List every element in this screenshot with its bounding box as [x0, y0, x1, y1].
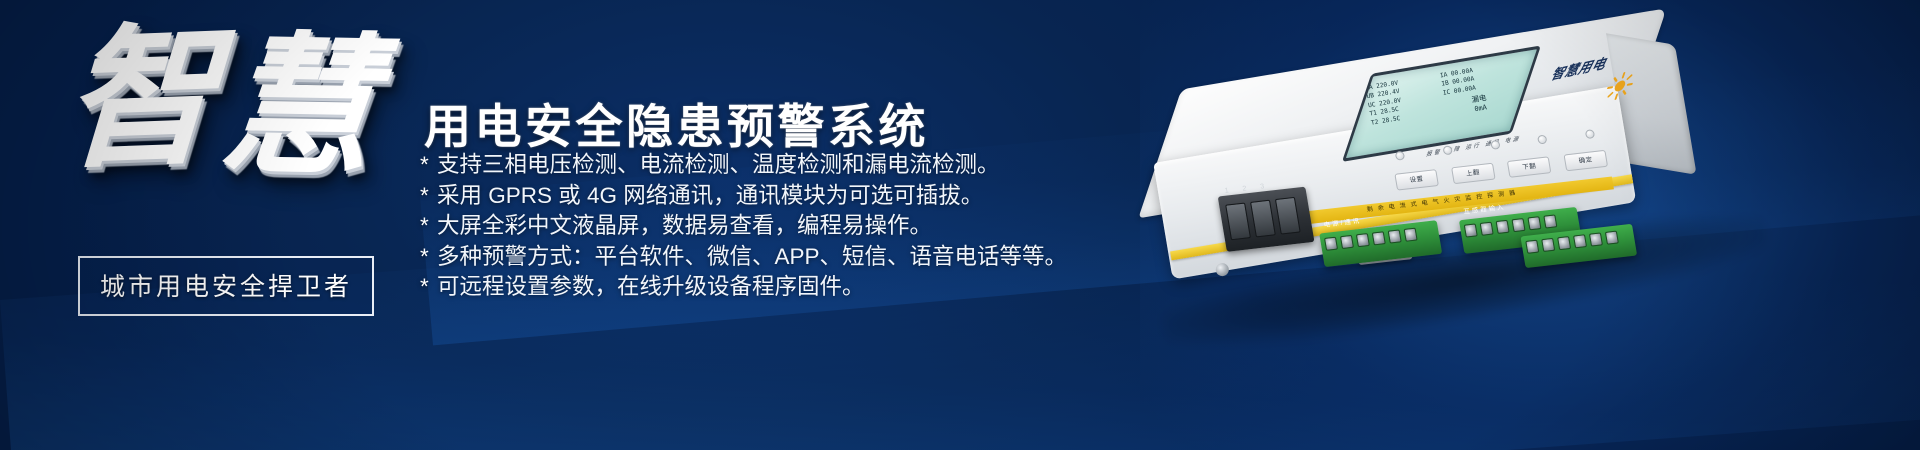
list-item-label: 大屏全彩中文液晶屏，数据易查看，编程易操作。 [437, 213, 932, 238]
indicator-led [1537, 135, 1547, 145]
connector-pin [1225, 203, 1251, 241]
page-title: 用电安全隐患预警系统 [424, 88, 929, 157]
terminal-screw [1527, 216, 1541, 230]
terminal-screw [1557, 236, 1571, 250]
bullet-marker-icon: * [420, 242, 437, 273]
device-black-connector: 1 2 3 [1218, 187, 1315, 252]
list-item-label: 采用 GPRS 或 4G 网络通讯，通讯模块为可选可插拔。 [437, 183, 983, 208]
terminal-screw [1511, 218, 1525, 232]
list-item-label: 支持三相电压检测、电流检测、温度检测和漏电流检测。 [437, 152, 1000, 177]
terminal-screws [1525, 231, 1619, 254]
bullet-marker-icon: * [420, 181, 437, 212]
calligraphy-char-2: 慧 [214, 29, 388, 184]
terminal-screw [1541, 238, 1555, 252]
promo-banner: 智慧 城市用电安全捍卫者 用电安全隐患预警系统 *支持三相电压检测、电流检测、温… [0, 0, 1920, 450]
indicator-led [1585, 129, 1595, 139]
indicator-led [1442, 145, 1452, 155]
bullet-marker-icon: * [420, 272, 437, 303]
indicator-led [1395, 151, 1405, 161]
list-item: *大屏全彩中文液晶屏，数据易查看，编程易操作。 [420, 211, 1120, 242]
list-item-label: 可远程设置参数，在线升级设备程序固件。 [437, 274, 865, 299]
connector-pin [1275, 197, 1301, 235]
device-body-group: UA 220.0V UB 220.4V UC 220.0V T1 28.5C T… [1078, 0, 1920, 404]
terminal-screws [1324, 228, 1418, 251]
list-item-label: 多种预警方式：平台软件、微信、APP、短信、语音电话等等。 [437, 244, 1067, 269]
terminal-screw [1404, 228, 1418, 242]
lcd-leakage-value: 0mA [1474, 102, 1488, 112]
terminal-screw [1543, 214, 1557, 228]
connector-pins [1225, 197, 1301, 240]
list-item: *采用 GPRS 或 4G 网络通讯，通讯模块为可选可插拔。 [420, 181, 1120, 212]
terminal-screw [1464, 223, 1478, 237]
list-item: *多种预警方式：平台软件、微信、APP、短信、语音电话等等。 [420, 242, 1120, 273]
terminal-screw [1388, 229, 1402, 243]
terminal-screw [1480, 222, 1494, 236]
terminal-screw [1605, 231, 1619, 245]
terminal-screw [1356, 233, 1370, 247]
calligraphy-title: 智慧 [55, 12, 439, 275]
terminal-screw [1372, 231, 1386, 245]
terminal-block-left: 电源/通讯 [1319, 220, 1442, 267]
bullet-marker-icon: * [420, 211, 437, 242]
bullet-marker-icon: * [420, 150, 437, 181]
connector-pin [1250, 200, 1276, 238]
terminal-screw [1525, 240, 1539, 254]
feature-list: *支持三相电压检测、电流检测、温度检测和漏电流检测。 *采用 GPRS 或 4G… [420, 150, 1120, 303]
terminal-screw [1589, 232, 1603, 246]
terminal-screw [1324, 237, 1338, 251]
terminal-screw [1573, 234, 1587, 248]
list-item: *可远程设置参数，在线升级设备程序固件。 [420, 272, 1120, 303]
indicator-led [1490, 140, 1500, 150]
calligraphy-char-1: 智 [59, 5, 227, 189]
terminal-screw [1496, 220, 1510, 234]
list-item: *支持三相电压检测、电流检测、温度检测和漏电流检测。 [420, 150, 1120, 181]
tagline-badge: 城市用电安全捍卫者 [78, 256, 374, 316]
product-device-image: UA 220.0V UB 220.4V UC 220.0V T1 28.5C T… [1100, 10, 1900, 340]
terminal-screw [1340, 235, 1354, 249]
